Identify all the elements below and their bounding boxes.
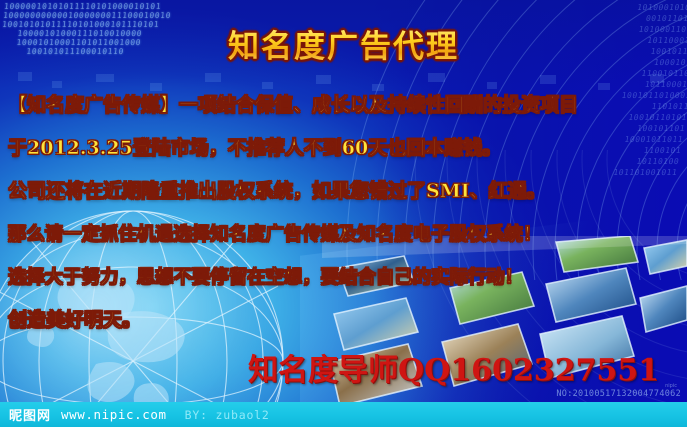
page-title: 知名度广告代理	[0, 21, 687, 66]
site-url: www.nipic.com	[61, 407, 167, 422]
site-name-cn: 昵图网	[9, 405, 51, 424]
poster-image: 10000010101011110101000010101 1000000000…	[0, 0, 687, 427]
body-line-5: 选择大于努力，思想不要停留在空想，要结合自己的实际行动！	[8, 256, 683, 299]
watermark-footer-bar: 昵图网 www.nipic.com BY: zubaol2	[0, 402, 687, 427]
author-credit: BY: zubaol2	[185, 408, 270, 422]
watermark-serial-number: NO:20100517132004774062	[556, 389, 681, 399]
contact-qq-text: 知名度导师QQ1602327551	[248, 345, 659, 389]
body-text-block: 【知名度广告传媒】一项结合保值、成长以及持续性回酬的投资项目 于2012.3.2…	[8, 84, 683, 342]
body-line-4: 那么请一定抓住机遇选择知名度广告传媒及知名度电子股权系统！	[8, 213, 683, 256]
body-line-3: 公司还将在近期隆重推出股权系统，如果您错过了SMI、红通。	[8, 170, 683, 213]
body-line-6: 创造美好明天。	[8, 299, 683, 342]
body-line-2: 于2012.3.25登陆市场，不推荐人不到60天也回本赚钱。	[8, 127, 683, 170]
body-line-1: 【知名度广告传媒】一项结合保值、成长以及持续性回酬的投资项目	[8, 84, 683, 127]
